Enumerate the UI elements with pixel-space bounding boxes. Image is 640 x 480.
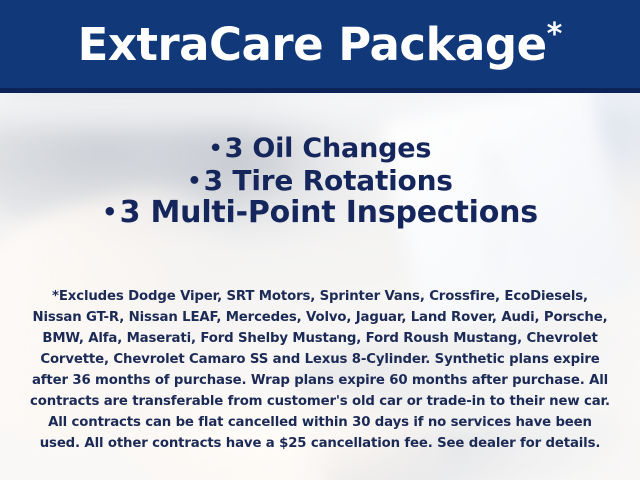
page-title: ExtraCare Package* <box>78 20 563 67</box>
page-title-asterisk: * <box>547 17 563 52</box>
benefit-item-multi-point-inspections: •3 Multi-Point Inspections <box>0 196 640 230</box>
benefit-label-multi-point-inspections: 3 Multi-Point Inspections <box>120 195 538 230</box>
benefit-label-oil-changes: 3 Oil Changes <box>225 133 432 164</box>
benefits-list: •3 Oil Changes •3 Tire Rotations •3 Mult… <box>0 134 640 230</box>
bullet-dot-icon: • <box>209 136 225 161</box>
disclaimer-text: *Excludes Dodge Viper, SRT Motors, Sprin… <box>28 286 612 454</box>
page-title-text: ExtraCare Package <box>78 18 547 71</box>
benefit-item-oil-changes: •3 Oil Changes <box>0 134 640 165</box>
benefit-item-tire-rotations: •3 Tire Rotations <box>0 165 640 197</box>
extracare-package-ad: ExtraCare Package* •3 Oil Changes •3 Tir… <box>0 0 640 480</box>
header-banner: ExtraCare Package* <box>0 0 640 88</box>
bullet-dot-icon: • <box>102 198 120 226</box>
header-divider <box>0 88 640 93</box>
benefit-label-tire-rotations: 3 Tire Rotations <box>204 164 453 197</box>
bullet-dot-icon: • <box>187 168 203 194</box>
